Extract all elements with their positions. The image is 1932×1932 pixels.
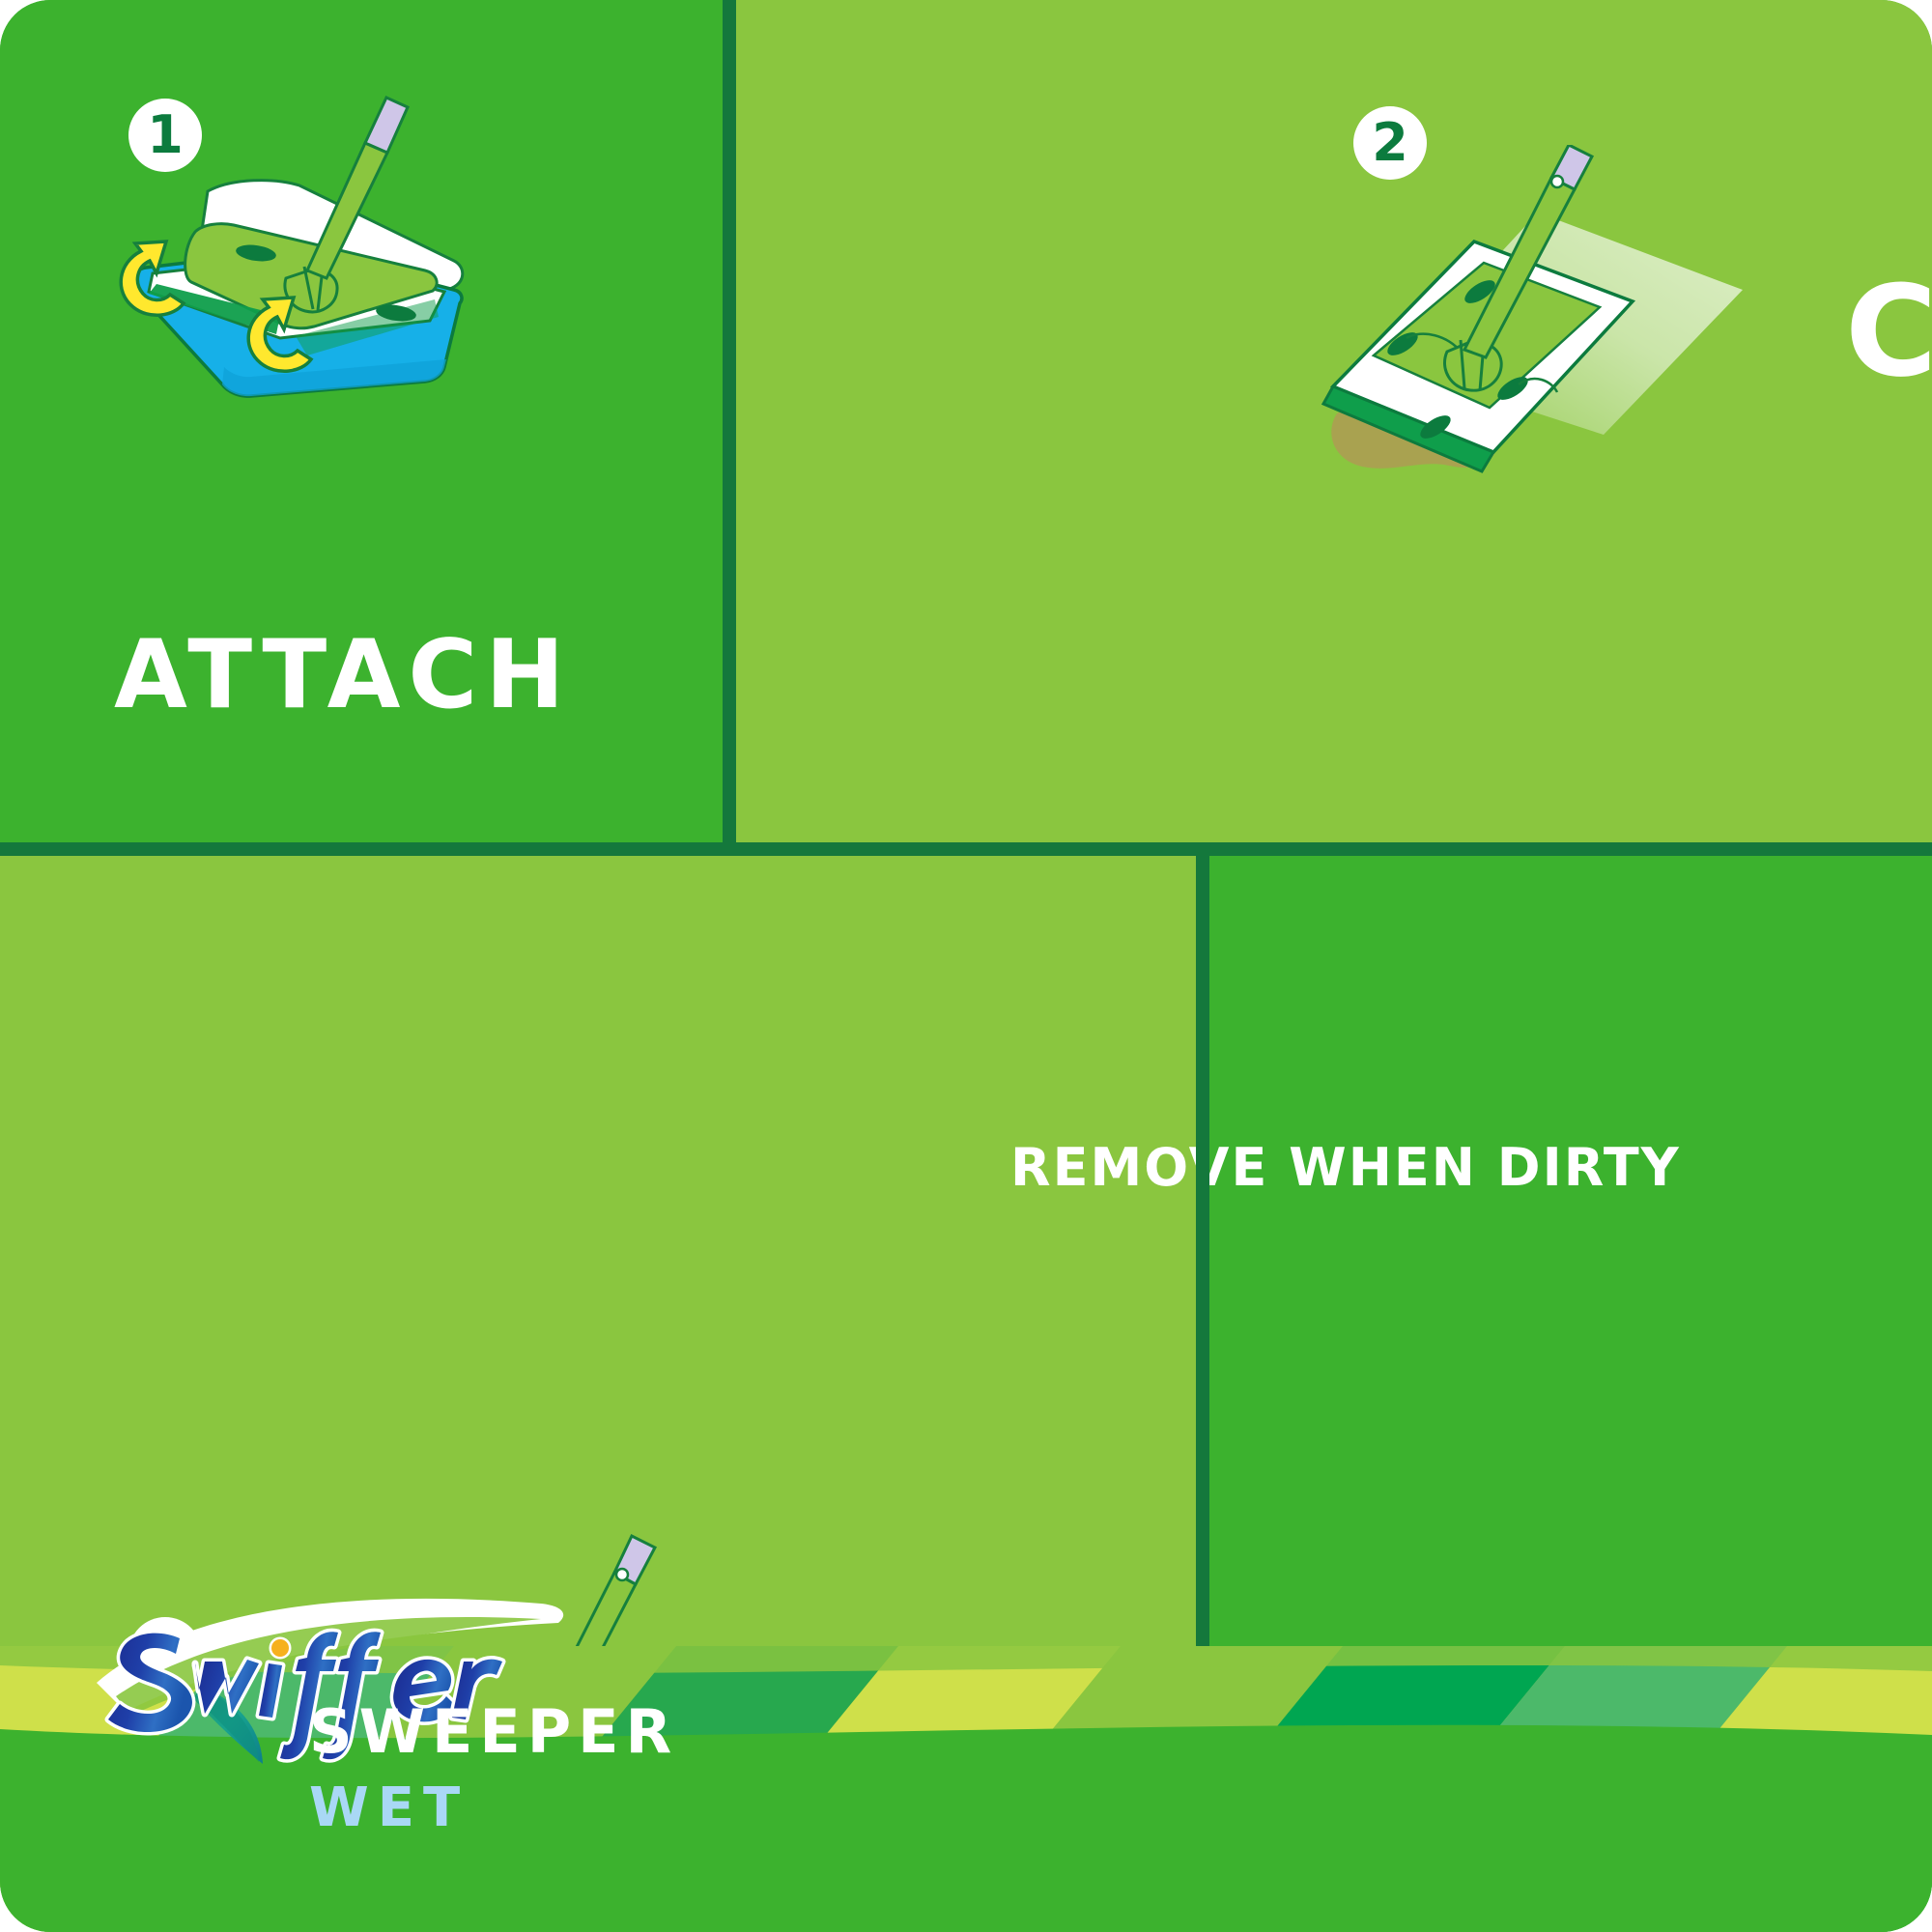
brand-line-variant: WET xyxy=(309,1781,469,1835)
swiffer-logo: SWEEPER WET xyxy=(87,1594,589,1816)
step-panel-1: 1 ATTACH xyxy=(0,0,723,842)
panel-divider-horizontal xyxy=(0,842,1932,856)
step-caption-2: CLEAN xyxy=(1845,269,1932,394)
step-caption-1: ATTACH xyxy=(114,628,572,723)
step-badge-1: 1 xyxy=(128,99,202,172)
step-caption-4: REMOVE WHEN DIRTY xyxy=(1010,1142,1681,1194)
brand-line-sweeper: SWEEPER xyxy=(309,1702,678,1762)
instruction-poster: 1 ATTACH xyxy=(0,0,1932,1932)
step-badge-2: 2 xyxy=(1353,106,1427,180)
step-panel-2: 2 CLEAN xyxy=(736,0,1932,842)
panel-divider-vertical-top xyxy=(723,0,736,842)
mop-sweeping-floor-illustration xyxy=(1314,145,1932,551)
